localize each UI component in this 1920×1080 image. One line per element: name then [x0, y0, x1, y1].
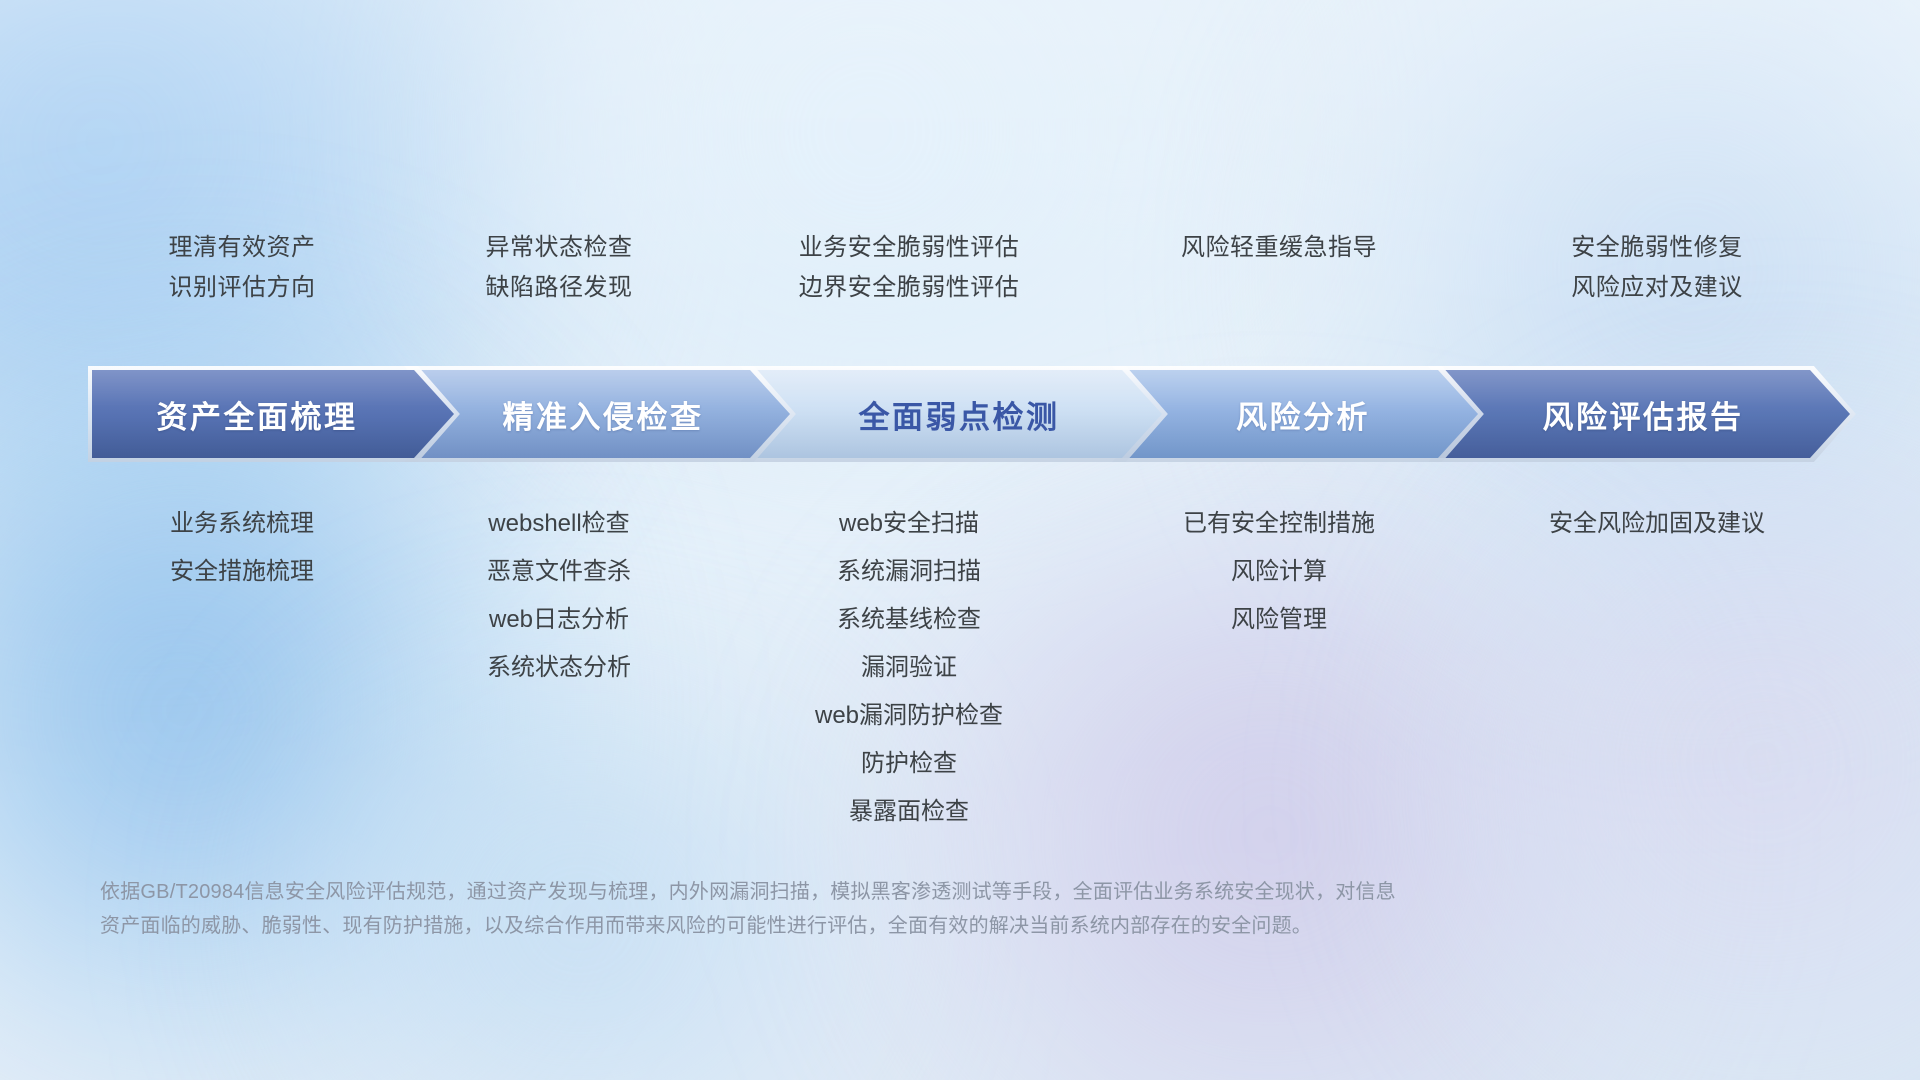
stage-2-bottom-item: 系统状态分析 — [394, 644, 724, 692]
stage-5-bottom-items: 安全风险加固及建议 — [1464, 500, 1850, 548]
stage-1-bottom-item: 业务系统梳理 — [90, 500, 394, 548]
stage-top-labels: 理清有效资产 识别评估方向 异常状态检查 缺陷路径发现 业务安全脆弱性评估 边界… — [90, 228, 1850, 308]
diagram-content: 理清有效资产 识别评估方向 异常状态检查 缺陷路径发现 业务安全脆弱性评估 边界… — [0, 0, 1920, 1080]
stage-1-top-item: 识别评估方向 — [90, 268, 394, 308]
chevron-1-label: 资产全面梳理 — [88, 392, 460, 437]
stage-2-bottom-item: web日志分析 — [394, 596, 724, 644]
chevron-5-label: 风险评估报告 — [1428, 392, 1856, 437]
stage-2-top-item: 缺陷路径发现 — [394, 268, 724, 308]
stage-2-bottom-items: webshell检查 恶意文件查杀 web日志分析 系统状态分析 — [394, 500, 724, 692]
stage-4-top-items: 风险轻重缓急指导 — [1094, 228, 1464, 308]
chevron-stage-1[interactable]: 资产全面梳理 — [88, 366, 460, 462]
stage-4-bottom-item: 已有安全控制措施 — [1094, 500, 1464, 548]
stage-3-bottom-item: 暴露面检查 — [724, 788, 1094, 836]
stage-5-top-item: 风险应对及建议 — [1464, 268, 1850, 308]
stage-4-bottom-item: 风险计算 — [1094, 548, 1464, 596]
chevron-stage-3[interactable]: 全面弱点检测 — [740, 366, 1168, 462]
stage-4-top-item: 风险轻重缓急指导 — [1094, 228, 1464, 268]
stage-3-bottom-item: 系统基线检查 — [724, 596, 1094, 644]
stage-3-bottom-item: web漏洞防护检查 — [724, 692, 1094, 740]
stage-5-bottom-item: 安全风险加固及建议 — [1464, 500, 1850, 548]
stage-4-bottom-item: 风险管理 — [1094, 596, 1464, 644]
stage-4-bottom-items: 已有安全控制措施 风险计算 风险管理 — [1094, 500, 1464, 644]
footer-line-2: 资产面临的威胁、脆弱性、现有防护措施，以及综合作用而带来风险的可能性进行评估，全… — [100, 909, 1620, 943]
process-chevron-band: 资产全面梳理 精准入侵检查 全面弱点检测 风险分析 风险评估报告 — [88, 366, 1856, 462]
slide-canvas: 理清有效资产 识别评估方向 异常状态检查 缺陷路径发现 业务安全脆弱性评估 边界… — [0, 0, 1920, 1080]
chevron-2-label: 精准入侵检查 — [404, 392, 796, 437]
chevron-stage-2[interactable]: 精准入侵检查 — [404, 366, 796, 462]
stage-5-top-items: 安全脆弱性修复 风险应对及建议 — [1464, 228, 1850, 308]
stage-3-bottom-item: 漏洞验证 — [724, 644, 1094, 692]
stage-3-top-item: 边界安全脆弱性评估 — [724, 268, 1094, 308]
stage-3-bottom-items: web安全扫描 系统漏洞扫描 系统基线检查 漏洞验证 web漏洞防护检查 防护检… — [724, 500, 1094, 836]
stage-1-bottom-item: 安全措施梳理 — [90, 548, 394, 596]
stage-3-top-item: 业务安全脆弱性评估 — [724, 228, 1094, 268]
stage-1-top-item: 理清有效资产 — [90, 228, 394, 268]
stage-3-top-items: 业务安全脆弱性评估 边界安全脆弱性评估 — [724, 228, 1094, 308]
stage-1-bottom-items: 业务系统梳理 安全措施梳理 — [90, 500, 394, 596]
stage-1-top-items: 理清有效资产 识别评估方向 — [90, 228, 394, 308]
stage-3-bottom-item: 防护检查 — [724, 740, 1094, 788]
chevron-stage-5[interactable]: 风险评估报告 — [1428, 366, 1856, 462]
stage-2-bottom-item: webshell检查 — [394, 500, 724, 548]
stage-2-top-items: 异常状态检查 缺陷路径发现 — [394, 228, 724, 308]
stage-2-top-item: 异常状态检查 — [394, 228, 724, 268]
stage-2-bottom-item: 恶意文件查杀 — [394, 548, 724, 596]
stage-5-top-item: 安全脆弱性修复 — [1464, 228, 1850, 268]
footer-line-1: 依据GB/T20984信息安全风险评估规范，通过资产发现与梳理，内外网漏洞扫描，… — [100, 875, 1620, 909]
footer-description: 依据GB/T20984信息安全风险评估规范，通过资产发现与梳理，内外网漏洞扫描，… — [100, 875, 1620, 943]
stage-3-bottom-item: 系统漏洞扫描 — [724, 548, 1094, 596]
stage-bottom-lists: 业务系统梳理 安全措施梳理 webshell检查 恶意文件查杀 web日志分析 … — [90, 500, 1850, 836]
chevron-3-label: 全面弱点检测 — [740, 392, 1168, 437]
stage-3-bottom-item: web安全扫描 — [724, 500, 1094, 548]
